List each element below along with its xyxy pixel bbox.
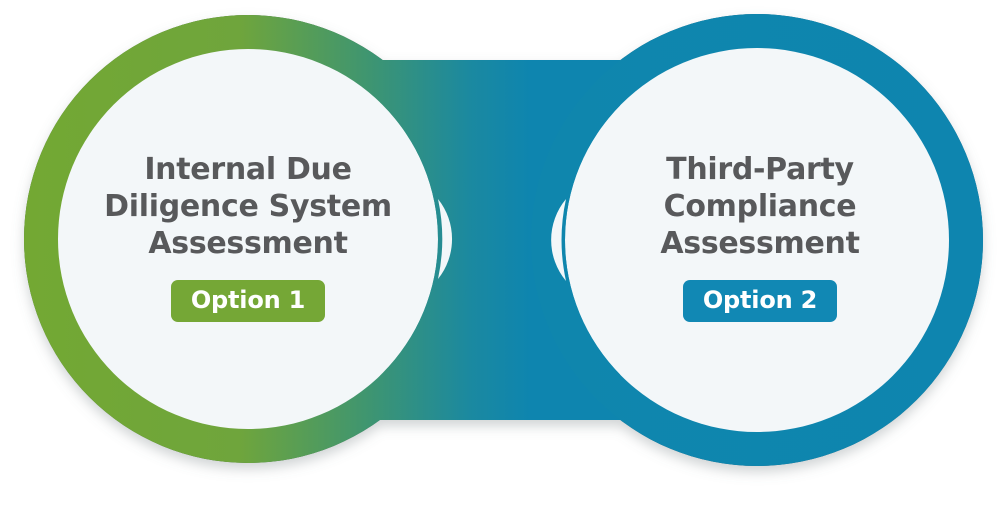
diagram-canvas: Internal Due Diligence System Assessment…: [0, 0, 1000, 508]
option-2-ring: [0, 0, 1000, 508]
linked-circles-graphic: [0, 0, 1000, 508]
